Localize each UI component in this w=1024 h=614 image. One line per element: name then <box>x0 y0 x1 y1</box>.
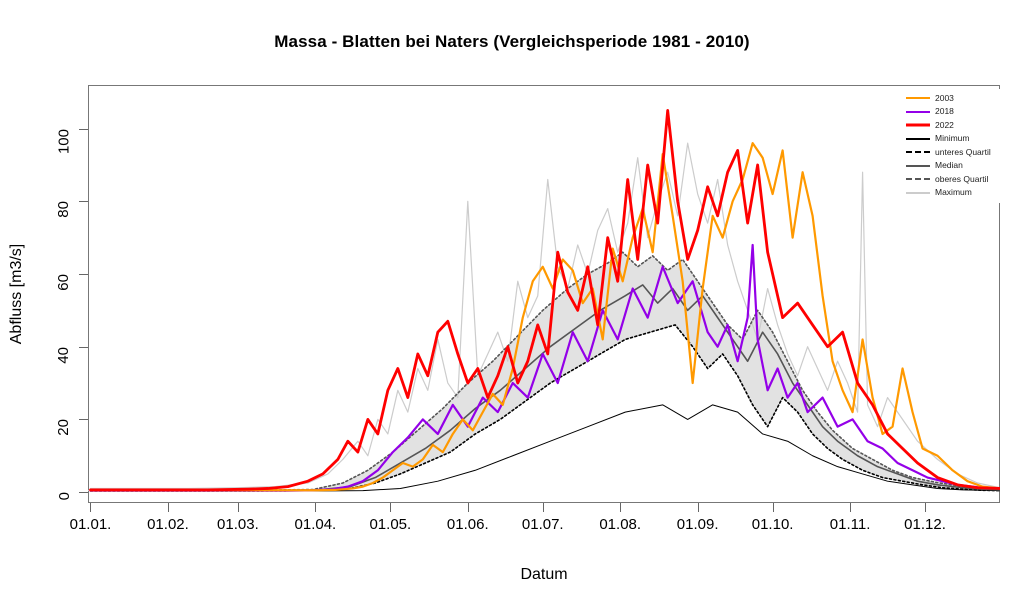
x-tick-label: 01.02. <box>147 516 189 533</box>
chart-legend: 200320182022Minimumunteres QuartilMedian… <box>903 89 1008 203</box>
x-tick-mark <box>238 503 239 512</box>
x-tick-mark <box>925 503 926 512</box>
x-axis: 01.01.01.02.01.03.01.04.01.05.01.06.01.0… <box>88 503 1000 548</box>
x-tick-label: 01.12. <box>904 516 946 533</box>
legend-item-maximum[interactable]: Maximum <box>906 187 1006 199</box>
legend-label: 2018 <box>935 106 954 117</box>
legend-label: Maximum <box>935 187 972 198</box>
legend-item-y2018[interactable]: 2018 <box>906 106 1006 118</box>
legend-swatch-icon <box>906 133 930 145</box>
x-tick-mark <box>390 503 391 512</box>
legend-label: unteres Quartil <box>935 147 991 158</box>
x-tick-label: 01.07. <box>522 516 564 533</box>
x-tick-mark <box>468 503 469 512</box>
legend-swatch-icon <box>906 173 930 185</box>
page-title: Massa - Blatten bei Naters (Vergleichspe… <box>0 32 1024 52</box>
x-tick-label: 01.01. <box>70 516 112 533</box>
legend-item-median[interactable]: Median <box>906 160 1006 172</box>
x-tick-mark <box>168 503 169 512</box>
legend-label: oberes Quartil <box>935 174 988 185</box>
plot-area <box>88 85 1000 503</box>
y-axis: 020406080100 <box>0 85 88 503</box>
x-tick-mark <box>543 503 544 512</box>
legend-item-unteres_quartil[interactable]: unteres Quartil <box>906 146 1006 158</box>
x-tick-mark <box>315 503 316 512</box>
legend-swatch-icon <box>906 106 930 118</box>
y-tick-mark <box>79 419 88 420</box>
legend-swatch-icon <box>906 119 930 131</box>
legend-item-oberes_quartil[interactable]: oberes Quartil <box>906 173 1006 185</box>
legend-label: Median <box>935 160 963 171</box>
y-tick-mark <box>79 129 88 130</box>
legend-item-y2003[interactable]: 2003 <box>906 92 1006 104</box>
series-line-minimum <box>91 405 1001 491</box>
y-tick-mark <box>79 274 88 275</box>
x-tick-mark <box>90 503 91 512</box>
y-tick-label: 40 <box>56 347 73 364</box>
x-tick-label: 01.09. <box>677 516 719 533</box>
legend-label: 2022 <box>935 120 954 131</box>
legend-item-minimum[interactable]: Minimum <box>906 133 1006 145</box>
y-tick-label: 80 <box>56 201 73 218</box>
y-tick-mark <box>79 347 88 348</box>
legend-swatch-icon <box>906 160 930 172</box>
legend-swatch-icon <box>906 92 930 104</box>
chart-page: Massa - Blatten bei Naters (Vergleichspe… <box>0 0 1024 614</box>
legend-swatch-icon <box>906 187 930 199</box>
chart-canvas <box>88 85 1000 503</box>
legend-label: Minimum <box>935 133 969 144</box>
y-tick-label: 100 <box>56 129 73 154</box>
y-tick-mark <box>79 201 88 202</box>
x-tick-label: 01.06. <box>447 516 489 533</box>
y-tick-label: 0 <box>56 492 73 500</box>
quartile-band <box>88 252 998 491</box>
y-tick-label: 60 <box>56 274 73 291</box>
x-tick-mark <box>698 503 699 512</box>
y-tick-mark <box>79 492 88 493</box>
x-tick-label: 01.08. <box>599 516 641 533</box>
y-tick-label: 20 <box>56 419 73 436</box>
legend-label: 2003 <box>935 93 954 104</box>
legend-swatch-icon <box>906 146 930 158</box>
x-tick-mark <box>620 503 621 512</box>
x-tick-mark <box>850 503 851 512</box>
legend-item-y2022[interactable]: 2022 <box>906 119 1006 131</box>
x-tick-label: 01.04. <box>295 516 337 533</box>
x-tick-label: 01.11. <box>830 516 871 533</box>
x-tick-mark <box>773 503 774 512</box>
x-tick-label: 01.05. <box>369 516 411 533</box>
x-axis-title: Datum <box>88 566 1000 584</box>
x-tick-label: 01.03. <box>217 516 259 533</box>
series-line-y2022 <box>91 110 1001 489</box>
x-tick-label: 01.10. <box>752 516 794 533</box>
